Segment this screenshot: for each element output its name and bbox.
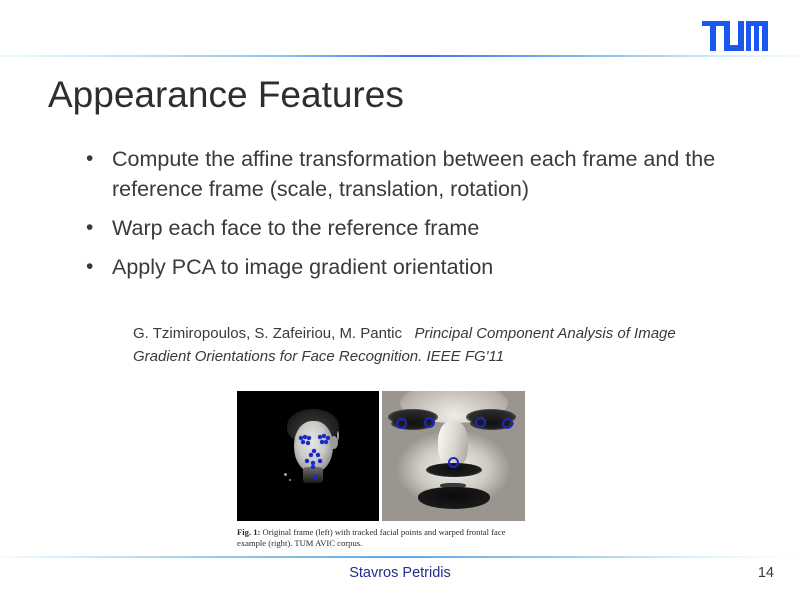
figure-caption-label: Fig. 1: — [237, 527, 260, 537]
list-item: • Compute the affine transformation betw… — [86, 144, 726, 204]
figure-caption-text: Original frame (left) with tracked facia… — [237, 527, 505, 548]
bullet-list: • Compute the affine transformation betw… — [86, 144, 726, 291]
tum-logo — [702, 21, 768, 51]
figure-images — [237, 391, 525, 521]
list-item: • Warp each face to the reference frame — [86, 213, 726, 243]
presentation-slide: Appearance Features • Compute the affine… — [0, 0, 800, 599]
bullet-marker-icon: • — [86, 252, 112, 282]
bullet-text: Compute the affine transformation betwee… — [112, 144, 726, 204]
bullet-marker-icon: • — [86, 213, 112, 243]
bullet-text: Warp each face to the reference frame — [112, 213, 726, 243]
figure-image-original-frame — [237, 391, 379, 521]
figure: Fig. 1: Original frame (left) with track… — [237, 391, 525, 549]
footer-author: Stavros Petridis — [0, 565, 800, 581]
page-title: Appearance Features — [48, 74, 404, 116]
citation: G. Tzimiropoulos, S. Zafeiriou, M. Panti… — [133, 322, 733, 368]
citation-authors: G. Tzimiropoulos, S. Zafeiriou, M. Panti… — [133, 325, 402, 342]
list-item: • Apply PCA to image gradient orientatio… — [86, 252, 726, 282]
figure-image-warped-face — [382, 391, 525, 521]
figure-caption: Fig. 1: Original frame (left) with track… — [237, 527, 525, 549]
bullet-marker-icon: • — [86, 144, 112, 174]
slide-page-number: 14 — [758, 565, 774, 581]
header-divider — [0, 55, 800, 57]
bullet-text: Apply PCA to image gradient orientation — [112, 252, 726, 282]
footer-divider — [0, 556, 800, 558]
